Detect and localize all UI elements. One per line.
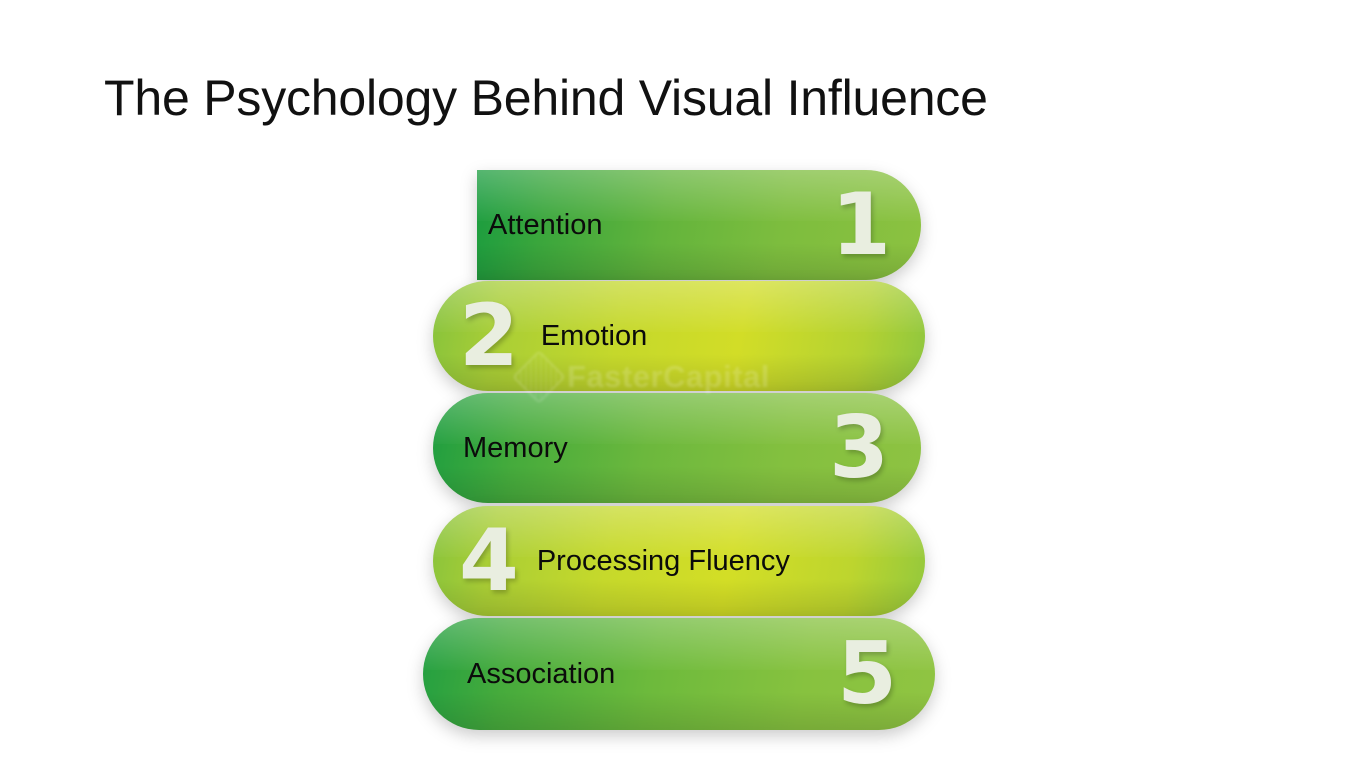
band-label: Memory xyxy=(463,432,568,465)
band-item-attention[interactable]: Attention 1 xyxy=(477,170,921,280)
band-label: Attention xyxy=(488,209,602,242)
band-item-emotion[interactable]: 2 Emotion xyxy=(433,281,925,391)
band-label: Processing Fluency xyxy=(537,545,790,578)
band-item-processing-fluency[interactable]: 4 Processing Fluency xyxy=(433,506,925,616)
band-label: Association xyxy=(467,658,615,691)
band-item-memory[interactable]: Memory 3 xyxy=(433,393,921,503)
band-number: 1 xyxy=(831,182,891,268)
band-stack: Attention 1 2 Emotion Memory 3 4 Process… xyxy=(0,0,1350,759)
band-number: 2 xyxy=(459,293,519,379)
band-label: Emotion xyxy=(541,320,647,353)
band-number: 5 xyxy=(837,631,897,717)
band-number: 4 xyxy=(459,518,519,604)
band-item-association[interactable]: Association 5 xyxy=(423,618,935,730)
band-number: 3 xyxy=(829,405,889,491)
